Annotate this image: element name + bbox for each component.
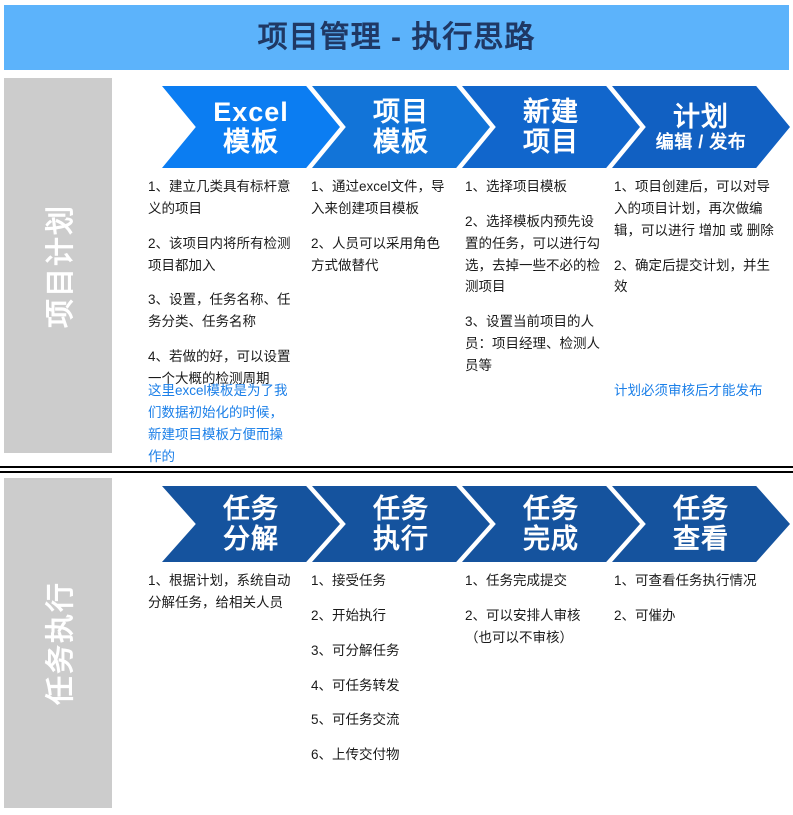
- content-column-task-decompose: 1、根据计划，系统自动分解任务，给相关人员: [148, 570, 296, 810]
- chevron-line1: 任务: [373, 494, 429, 524]
- content-list-item: 2、可以安排人审核（也可以不审核）: [465, 605, 607, 649]
- chevron-line1: 任务: [673, 494, 729, 524]
- chevron-line2: 模板: [223, 127, 279, 157]
- chevron-line2: 分解: [223, 524, 279, 554]
- content-column-task-execute: 1、接受任务2、开始执行3、可分解任务4、可任务转发5、可任务交流6、上传交付物: [311, 570, 453, 810]
- content-list-item: 6、上传交付物: [311, 744, 453, 766]
- divider-rule-top: [0, 466, 793, 468]
- chevron-row-task-execution: 任务 分解 任务 执行 任务 完成 任务 查看: [162, 486, 790, 562]
- content-column-new-project: 1、选择项目模板2、选择模板内预先设置的任务，可以进行勾选，去掉一些不必的检测项…: [465, 176, 607, 456]
- section-task-execution: 任务执行 任务 分解 任务 执行 任务 完成 任务 查看 1、根据计划，系统自动…: [0, 478, 793, 815]
- content-list-item: 2、该项目内将所有检测项目都加入: [148, 233, 296, 277]
- chevron-line2: 编辑 / 发布: [656, 132, 747, 152]
- content-list-item: 1、通过excel文件，导入来创建项目模板: [311, 176, 453, 220]
- content-list-item: 1、可查看任务执行情况: [614, 570, 779, 592]
- content-column-task-view: 1、可查看任务执行情况2、可催办: [614, 570, 779, 810]
- content-list-item: 3、可分解任务: [311, 640, 453, 662]
- content-list-item: 1、选择项目模板: [465, 176, 607, 198]
- section-divider: [0, 466, 793, 473]
- content-column-plan-edit-publish: 1、项目创建后，可以对导入的项目计划，再次做编辑，可以进行 增加 或 删除2、确…: [614, 176, 779, 456]
- content-list-item: 2、选择模板内预先设置的任务，可以进行勾选，去掉一些不必的检测项目: [465, 211, 607, 298]
- content-list-item: 2、可催办: [614, 605, 779, 627]
- chevron-line2: 项目: [523, 127, 579, 157]
- content-list-item: 1、根据计划，系统自动分解任务，给相关人员: [148, 570, 296, 614]
- content-list-item: 2、开始执行: [311, 605, 453, 627]
- sidebar-label-task-execution: 任务执行: [37, 581, 79, 705]
- chevron-line1: 新建: [523, 97, 579, 127]
- content-note-block: 计划必须审核后才能发布: [614, 380, 779, 402]
- content-list-item: 2、人员可以采用角色方式做替代: [311, 233, 453, 277]
- chevron-line2: 查看: [673, 524, 729, 554]
- content-list-item: 3、设置，任务名称、任务分类、任务名称: [148, 289, 296, 333]
- content-column-task-complete: 1、任务完成提交2、可以安排人审核（也可以不审核）: [465, 570, 607, 810]
- content-note: 这里excel模板是为了我们数据初始化的时候，新建项目模板方便而操作的: [148, 380, 296, 467]
- content-list-item: 1、接受任务: [311, 570, 453, 592]
- chevron-step-excel-template[interactable]: Excel 模板: [162, 86, 340, 168]
- content-list-item: 4、可任务转发: [311, 675, 453, 697]
- chevron-line1: 项目: [373, 97, 429, 127]
- divider-rule-bottom: [0, 471, 793, 473]
- content-list-item: 5、可任务交流: [311, 709, 453, 731]
- sidebar-task-execution: 任务执行: [4, 478, 112, 808]
- chevron-line2: 执行: [373, 524, 429, 554]
- chevron-step-task-decompose[interactable]: 任务 分解: [162, 486, 340, 562]
- content-list-item: 1、项目创建后，可以对导入的项目计划，再次做编辑，可以进行 增加 或 删除: [614, 176, 779, 242]
- chevron-line1: Excel: [213, 97, 289, 127]
- content-columns-project-plan: 1、建立几类具有标杆意义的项目2、该项目内将所有检测项目都加入3、设置，任务名称…: [148, 176, 793, 456]
- content-note: 计划必须审核后才能发布: [614, 380, 779, 402]
- content-columns-task-execution: 1、根据计划，系统自动分解任务，给相关人员 1、接受任务2、开始执行3、可分解任…: [148, 570, 793, 810]
- sidebar-project-plan: 项目计划: [4, 78, 112, 453]
- content-column-project-template: 1、通过excel文件，导入来创建项目模板2、人员可以采用角色方式做替代: [311, 176, 453, 456]
- content-note-block: 这里excel模板是为了我们数据初始化的时候，新建项目模板方便而操作的: [148, 380, 296, 467]
- chevron-line1: 计划: [673, 102, 729, 132]
- page-title: 项目管理 - 执行思路: [258, 23, 536, 53]
- chevron-line2: 模板: [373, 127, 429, 157]
- content-list-item: 2、确定后提交计划，并生效: [614, 255, 779, 299]
- content-list-item: 1、建立几类具有标杆意义的项目: [148, 176, 296, 220]
- chevron-row-project-plan: Excel 模板 项目 模板 新建 项目 计划 编辑 / 发布: [162, 86, 790, 168]
- header-banner: 项目管理 - 执行思路: [4, 5, 789, 70]
- chevron-line1: 任务: [523, 494, 579, 524]
- chevron-line1: 任务: [223, 494, 279, 524]
- sidebar-label-project-plan: 项目计划: [37, 203, 79, 327]
- section-project-plan: 项目计划 Excel 模板 项目 模板 新建 项目 计划 编辑 / 发布 1、建…: [0, 78, 793, 456]
- content-list-item: 3、设置当前项目的人员：项目经理、检测人员等: [465, 311, 607, 377]
- content-list-item: 1、任务完成提交: [465, 570, 607, 592]
- content-column-excel-template: 1、建立几类具有标杆意义的项目2、该项目内将所有检测项目都加入3、设置，任务名称…: [148, 176, 296, 456]
- chevron-line2: 完成: [523, 524, 579, 554]
